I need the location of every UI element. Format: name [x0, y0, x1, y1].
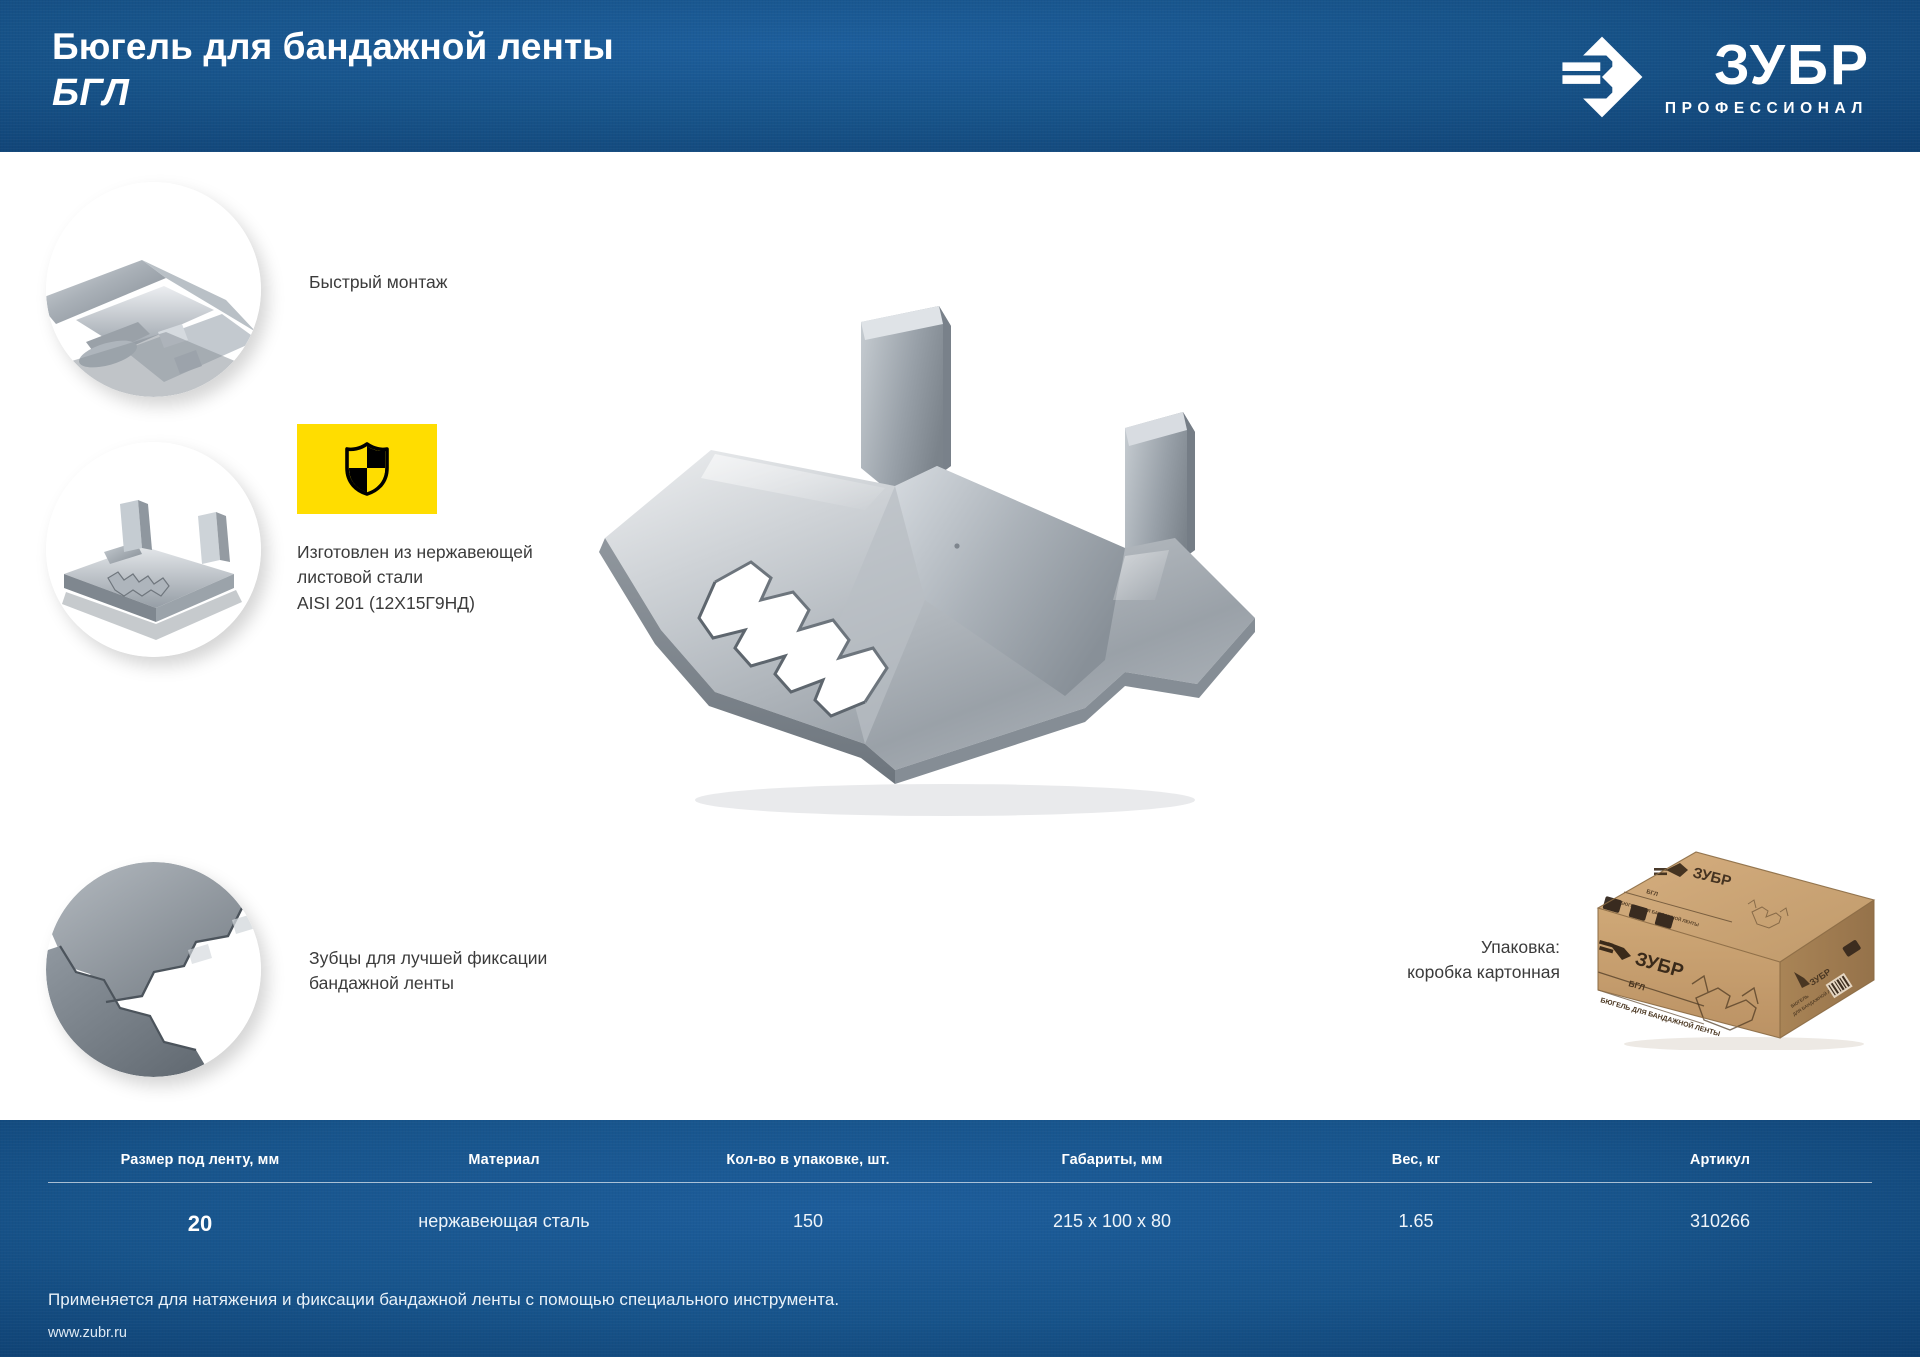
spec-value-weight: 1.65 — [1264, 1211, 1568, 1237]
brand-tagline: ПРОФЕССИОНАЛ — [1665, 100, 1868, 118]
spec-header-article: Артикул — [1568, 1152, 1872, 1168]
product-datasheet: Бюгель для бандажной ленты БГЛ ЗУБР ПРОФ… — [0, 0, 1920, 1357]
brand-logo: ЗУБР ПРОФЕССИОНАЛ — [1559, 34, 1870, 120]
brand-name: ЗУБР — [1714, 38, 1870, 92]
website-url[interactable]: www.zubr.ru — [48, 1325, 127, 1341]
spec-value-dimensions: 215 x 100 x 80 — [960, 1211, 1264, 1237]
feature-photo-teeth — [46, 862, 261, 1077]
feature-label-stainless-steel: Изготовлен из нержавеющей листовой стали… — [297, 540, 533, 616]
header-title-block: Бюгель для бандажной ленты БГЛ — [52, 28, 614, 114]
packaging-label: Упаковка: коробка картонная — [1407, 935, 1560, 986]
page-footer: Размер под ленту, мм Материал Кол-во в у… — [0, 1120, 1920, 1357]
usage-note: Применяется для натяжения и фиксации бан… — [48, 1290, 839, 1310]
feature-photo-fast-mount — [46, 182, 261, 397]
spec-table: Размер под ленту, мм Материал Кол-во в у… — [48, 1152, 1872, 1237]
feature-teeth-fixation: Зубцы для лучшей фиксации бандажной лент… — [46, 862, 547, 1077]
shield-icon — [344, 442, 390, 496]
spec-header-quantity: Кол-во в упаковке, шт. — [656, 1152, 960, 1168]
brand-text-block: ЗУБР ПРОФЕССИОНАЛ — [1665, 34, 1870, 118]
feature-label-fast-mount: Быстрый монтаж — [309, 270, 447, 295]
spec-value-quantity: 150 — [656, 1211, 960, 1237]
feature-stainless-steel: Изготовлен из нержавеющей листовой стали… — [46, 442, 533, 657]
feature-fast-mount: Быстрый монтаж — [46, 182, 447, 397]
spec-value-material: нержавеющая сталь — [352, 1211, 656, 1237]
packaging-block: Упаковка: коробка картонная — [1407, 830, 1884, 1050]
product-model: БГЛ — [52, 74, 614, 114]
zubr-diamond-icon — [1559, 34, 1645, 120]
spec-header-size: Размер под ленту, мм — [48, 1152, 352, 1168]
spec-header-dimensions: Габариты, мм — [960, 1152, 1264, 1168]
spec-value-size: 20 — [48, 1211, 352, 1237]
feature-badge-column: Изготовлен из нержавеющей листовой стали… — [297, 442, 533, 616]
page-header: Бюгель для бандажной ленты БГЛ ЗУБР ПРОФ… — [0, 0, 1920, 152]
page-title: Бюгель для бандажной ленты — [52, 28, 614, 67]
spec-header-material: Материал — [352, 1152, 656, 1168]
spec-header-weight: Вес, кг — [1264, 1152, 1568, 1168]
spec-value-article: 310266 — [1568, 1211, 1872, 1237]
product-hero-image — [565, 300, 1325, 860]
feature-photo-stainless-steel — [46, 442, 261, 657]
spec-table-header-row: Размер под ленту, мм Материал Кол-во в у… — [48, 1152, 1872, 1182]
feature-label-teeth: Зубцы для лучшей фиксации бандажной лент… — [309, 946, 547, 997]
packaging-box-image: ЗУБР БГЛ БЮГЕЛЬ ДЛЯ БАНДАЖНОЙ ЛЕНТЫ — [1584, 830, 1884, 1050]
spec-table-value-row: 20 нержавеющая сталь 150 215 x 100 x 80 … — [48, 1183, 1872, 1237]
protection-badge — [297, 424, 437, 514]
